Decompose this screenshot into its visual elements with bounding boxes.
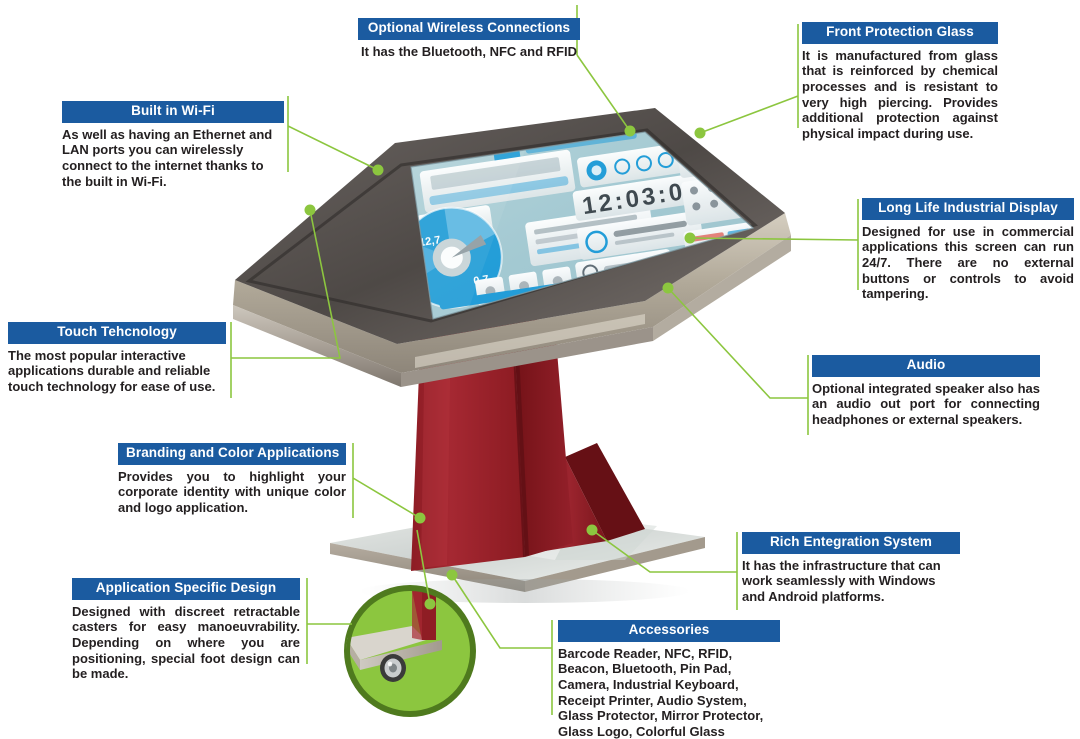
callout-title: Audio	[812, 355, 1040, 377]
callout-optional-wireless-connections: Optional Wireless Connections It has the…	[358, 18, 580, 59]
callout-body: Provides you to highlight your corporate…	[118, 469, 346, 516]
callout-long-life-industrial-display: Long Life Industrial Display Designed fo…	[862, 198, 1074, 302]
callout-body: The most popular interactive application…	[8, 348, 226, 395]
callout-title: Rich Entegration System	[742, 532, 960, 554]
callout-body: Optional integrated speaker also has an …	[812, 381, 1040, 428]
callout-title: Touch Tehcnology	[8, 322, 226, 344]
callout-title: Long Life Industrial Display	[862, 198, 1074, 220]
callout-application-specific-design: Application Specific Design Designed wit…	[72, 578, 300, 682]
callout-title: Optional Wireless Connections	[358, 18, 580, 40]
callout-rich-entegration-system: Rich Entegration System It has the infra…	[742, 532, 960, 605]
callout-title: Application Specific Design	[72, 578, 300, 600]
callout-body: It has the Bluetooth, NFC and RFID	[358, 44, 580, 60]
callout-body: It is manufactured from glass that is re…	[802, 48, 998, 142]
callout-accessories: Accessories Barcode Reader, NFC, RFID, B…	[558, 620, 780, 739]
callout-title: Built in Wi-Fi	[62, 101, 284, 123]
callout-body: Designed with discreet retractable caste…	[72, 604, 300, 682]
callout-title: Front Protection Glass	[802, 22, 998, 44]
callout-branding-and-color-applications: Branding and Color Applications Provides…	[118, 443, 346, 516]
callout-audio: Audio Optional integrated speaker also h…	[812, 355, 1040, 428]
kiosk-illustration: 12,7 0,7	[225, 105, 805, 625]
callout-body: Barcode Reader, NFC, RFID, Beacon, Bluet…	[558, 646, 780, 739]
callout-title: Accessories	[558, 620, 780, 642]
callout-body: Designed for use in commercial applicati…	[862, 224, 1074, 302]
callout-body: As well as having an Ethernet and LAN po…	[62, 127, 284, 189]
callout-body: It has the infrastructure that can work …	[742, 558, 960, 605]
callout-touch-technology: Touch Tehcnology The most popular intera…	[8, 322, 226, 395]
callout-built-in-wifi: Built in Wi-Fi As well as having an Ethe…	[62, 101, 284, 189]
callout-front-protection-glass: Front Protection Glass It is manufacture…	[802, 22, 998, 141]
retractable-caster-zoom	[338, 578, 488, 727]
diagram-canvas: 12,7 0,7	[0, 0, 1080, 727]
callout-title: Branding and Color Applications	[118, 443, 346, 465]
